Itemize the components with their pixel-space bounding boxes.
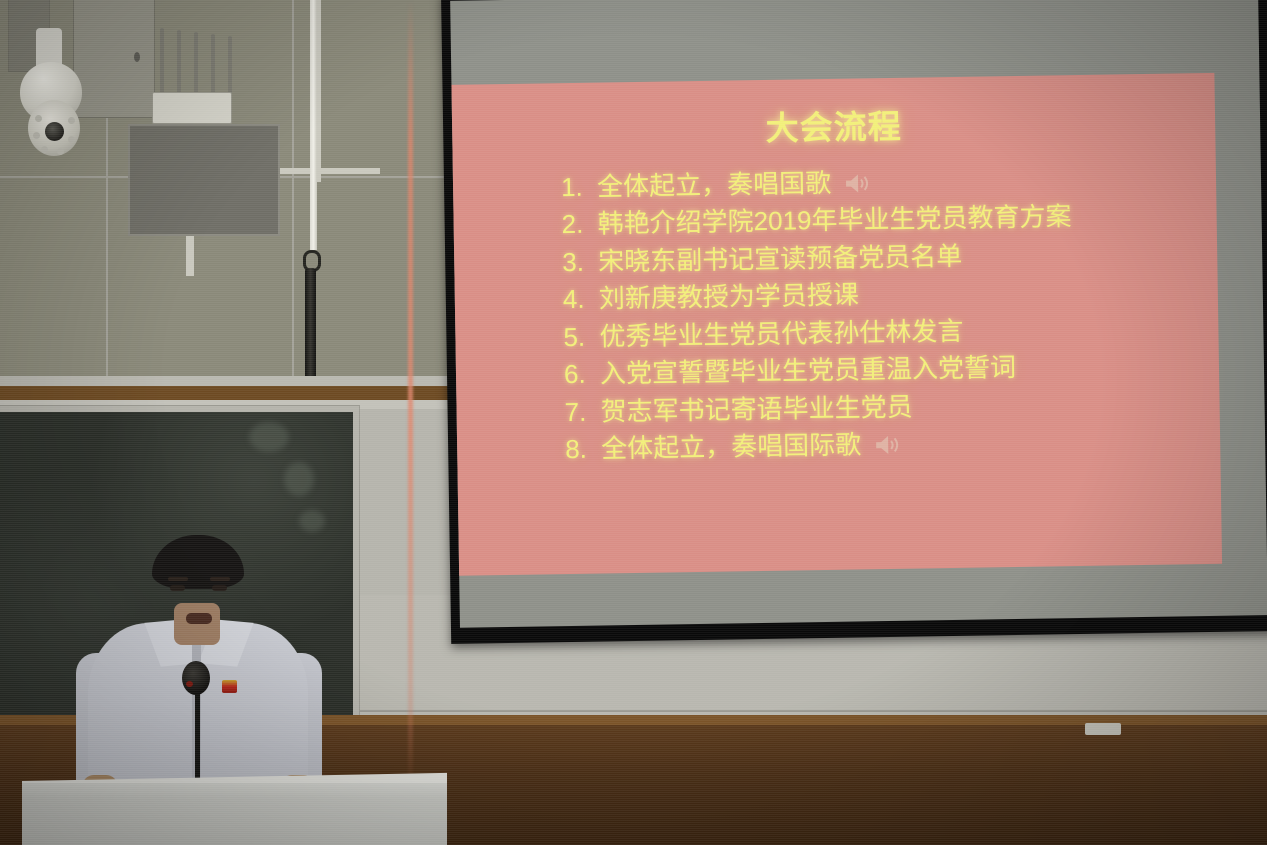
party-emblem-pin-icon bbox=[222, 680, 237, 693]
camera-ir-led-5 bbox=[68, 136, 75, 143]
camera-ir-led-4 bbox=[57, 148, 64, 155]
chalk-smudge-1 bbox=[249, 422, 289, 452]
camera-lens-icon bbox=[45, 122, 64, 141]
agenda-item-number: 4. bbox=[563, 281, 600, 319]
speaker-eyebrow-left bbox=[168, 577, 188, 581]
agenda-item-text: 全体起立，奏唱国歌 bbox=[597, 165, 832, 206]
signal-jammer bbox=[152, 92, 232, 124]
speaker-hair bbox=[152, 535, 244, 589]
agenda-item-number: 5. bbox=[563, 318, 600, 356]
jammer-antenna-3 bbox=[194, 32, 198, 96]
podium-microphone-indicator bbox=[186, 681, 193, 687]
slide-agenda-list: 1.全体起立，奏唱国歌2.韩艳介绍学院2019年毕业生党员教育方案3.宋晓东副书… bbox=[561, 159, 1221, 469]
wall-panel-4 bbox=[0, 176, 110, 386]
jammer-antenna-2 bbox=[177, 30, 181, 96]
chalk-smudge-2 bbox=[284, 462, 314, 496]
audio-speaker-icon bbox=[843, 172, 869, 194]
wall-dark-panel-box bbox=[128, 124, 280, 236]
agenda-item-text: 韩艳介绍学院2019年毕业生党员教育方案 bbox=[597, 199, 1071, 244]
agenda-item-text: 宋晓东副书记宣读预备党员名单 bbox=[598, 238, 963, 281]
agenda-item-number: 2. bbox=[561, 206, 598, 244]
lecture-hall-photo: 大会流程 1.全体起立，奏唱国歌2.韩艳介绍学院2019年毕业生党员教育方案3.… bbox=[0, 0, 1267, 845]
cabinet-lock-icon bbox=[134, 52, 140, 62]
audio-speaker-icon bbox=[873, 434, 899, 456]
slide-title: 大会流程 bbox=[452, 95, 1216, 155]
wall-lower-seam bbox=[360, 710, 1267, 712]
agenda-item-number: 1. bbox=[561, 169, 598, 207]
agenda-item-text: 入党宣誓暨毕业生党员重温入党誓词 bbox=[600, 349, 1017, 393]
agenda-item-number: 3. bbox=[562, 243, 599, 281]
panel-box-conduit bbox=[186, 236, 194, 276]
podium bbox=[22, 783, 447, 845]
speaker-eyebrow-right bbox=[210, 577, 230, 581]
jammer-antenna-5 bbox=[228, 36, 232, 96]
wall-trim-upper bbox=[0, 376, 470, 386]
agenda-item-text: 刘新庚教授为学员授课 bbox=[599, 277, 860, 319]
agenda-item-text: 贺志军书记寄语毕业生党员 bbox=[600, 388, 913, 430]
agenda-item-text: 优秀毕业生党员代表孙仕林发言 bbox=[599, 313, 964, 356]
speaker-eye-left bbox=[170, 585, 185, 591]
ledge-object bbox=[1085, 723, 1121, 735]
camera-ir-led-1 bbox=[35, 115, 42, 122]
speaker-mouth bbox=[186, 613, 212, 624]
camera-ir-led-3 bbox=[41, 146, 48, 153]
jammer-antenna-1 bbox=[160, 28, 164, 96]
podium-microphone-head bbox=[182, 661, 210, 695]
camera-ir-led-6 bbox=[68, 117, 75, 124]
wall-trim-wood bbox=[0, 386, 470, 400]
jammer-antenna-4 bbox=[211, 34, 215, 96]
camera-ir-led-2 bbox=[33, 132, 40, 139]
electrical-cabinet bbox=[73, 0, 155, 118]
microphone-pole bbox=[310, 0, 317, 250]
projection-screen: 大会流程 1.全体起立，奏唱国歌2.韩艳介绍学院2019年毕业生党员教育方案3.… bbox=[441, 0, 1267, 644]
agenda-item-text: 全体起立，奏唱国际歌 bbox=[601, 427, 862, 469]
agenda-item-number: 8. bbox=[565, 431, 602, 469]
speaker-eye-right bbox=[212, 585, 227, 591]
presentation-slide: 大会流程 1.全体起立，奏唱国歌2.韩艳介绍学院2019年毕业生党员教育方案3.… bbox=[451, 73, 1222, 576]
projection-screen-canvas: 大会流程 1.全体起立，奏唱国歌2.韩艳介绍学院2019年毕业生党员教育方案3.… bbox=[450, 0, 1267, 628]
agenda-item-number: 7. bbox=[564, 393, 601, 431]
agenda-item-number: 6. bbox=[564, 356, 601, 394]
